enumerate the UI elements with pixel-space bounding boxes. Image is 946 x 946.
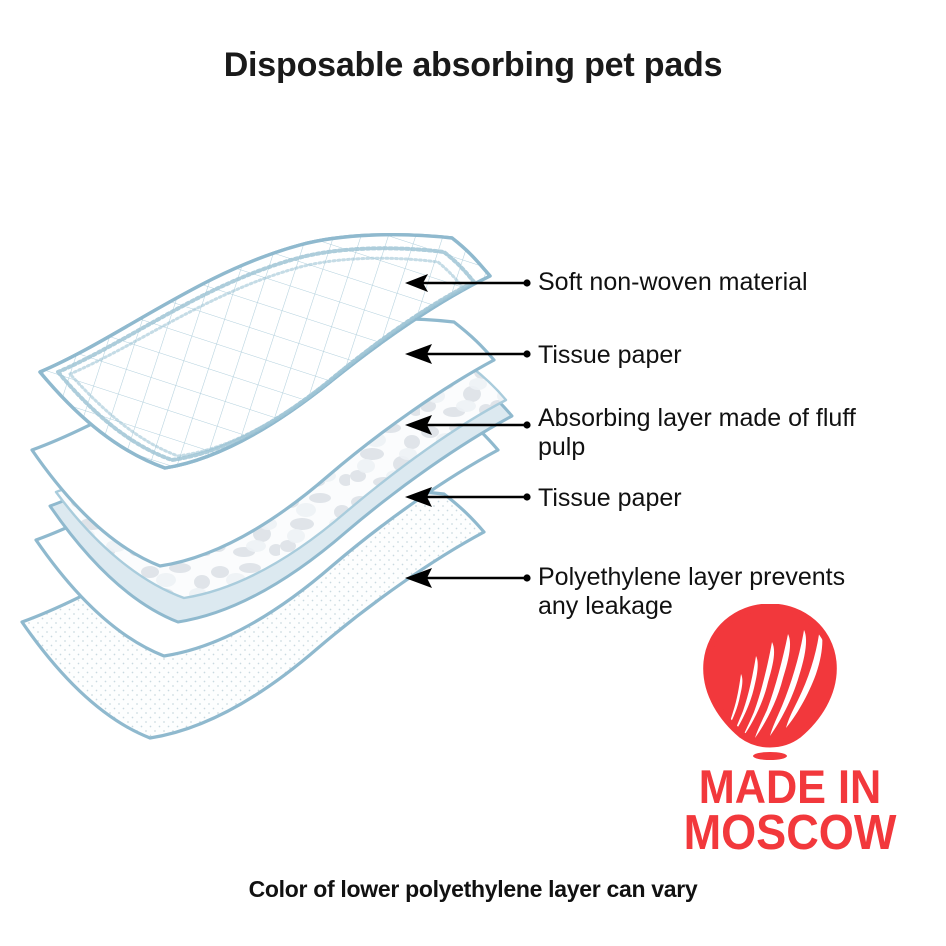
- balloon-basket-dash: [753, 752, 787, 760]
- logo-wordmark: MADE IN MOSCOW: [660, 764, 920, 856]
- hot-air-balloon-icon: [700, 604, 840, 762]
- logo-line-moscow: MOSCOW: [670, 810, 909, 856]
- page-footnote: Color of lower polyethylene layer can va…: [0, 876, 946, 903]
- made-in-moscow-logo: MADE IN MOSCOW: [660, 604, 920, 862]
- callout-label-tissue-paper-top: Tissue paper: [538, 341, 682, 370]
- callout-label-absorbing-fluff-pulp: Absorbing layer made of fluff pulp: [538, 404, 938, 462]
- callout-label-tissue-paper-bottom: Tissue paper: [538, 484, 682, 513]
- callout-arrow-5: [405, 568, 531, 588]
- logo-line-made-in: MADE IN: [670, 764, 909, 810]
- illustration-page: Disposable absorbing pet pads: [0, 0, 946, 946]
- callout-label-soft-non-woven: Soft non-woven material: [538, 268, 808, 297]
